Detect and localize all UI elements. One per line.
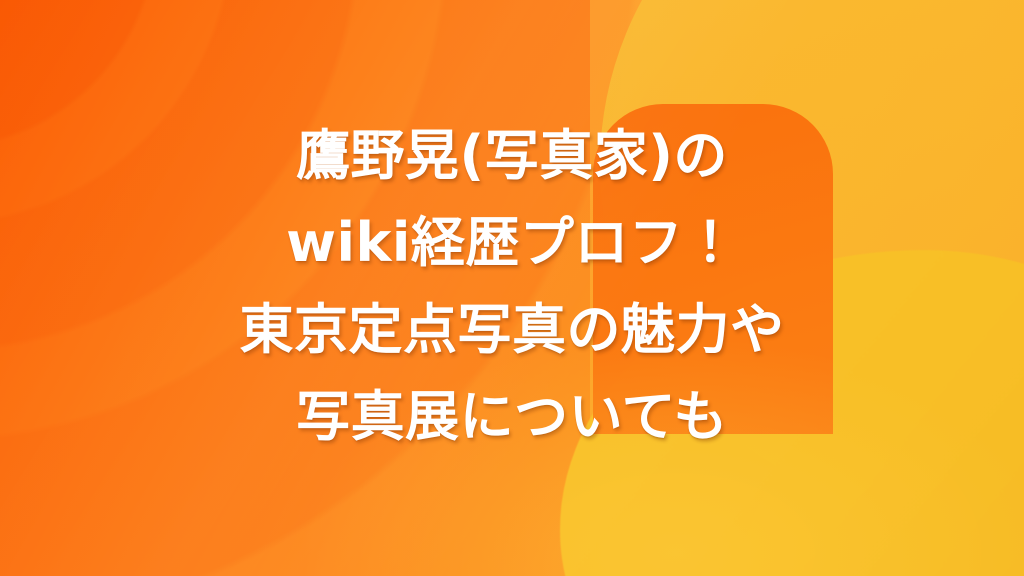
headline-line-1: 鷹野晃(写真家)の bbox=[0, 112, 1024, 199]
headline-line-4: 写真展についても bbox=[0, 373, 1024, 460]
headline-block: 鷹野晃(写真家)の wiki経歴プロフ！ 東京定点写真の魅力や 写真展についても bbox=[0, 112, 1024, 460]
thumbnail-canvas: 鷹野晃(写真家)の wiki経歴プロフ！ 東京定点写真の魅力や 写真展についても bbox=[0, 0, 1024, 576]
headline-line-3: 東京定点写真の魅力や bbox=[0, 286, 1024, 373]
headline-line-2: wiki経歴プロフ！ bbox=[0, 199, 1024, 286]
